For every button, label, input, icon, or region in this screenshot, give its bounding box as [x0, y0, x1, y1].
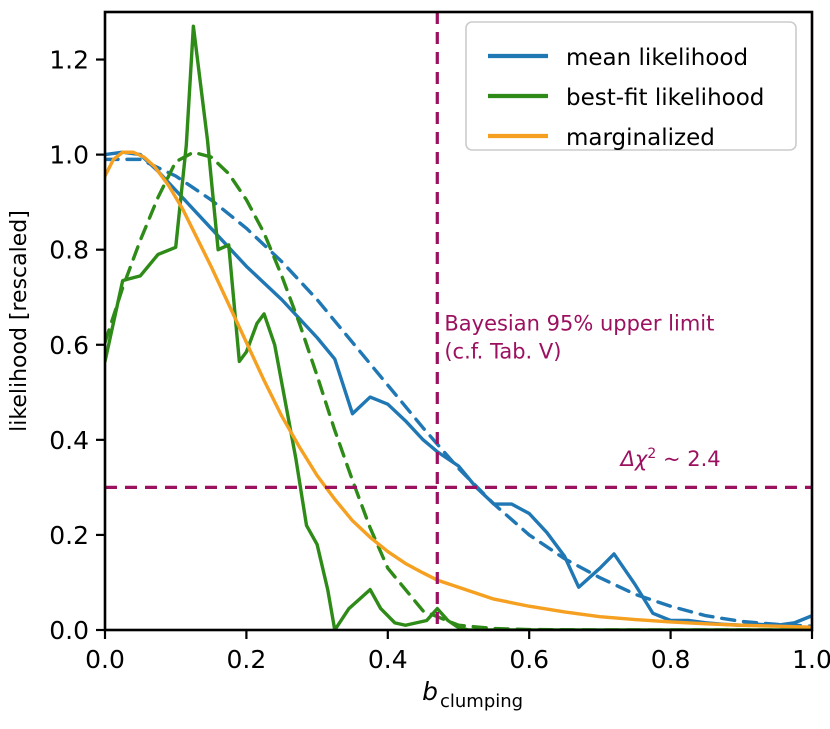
legend-label: best-fit likelihood	[566, 85, 764, 111]
delta-chi2-annotation-text: Δχ2 ~ 2.4	[619, 446, 721, 471]
x-tick-label: 0.0	[85, 645, 125, 674]
y-tick-label: 0.2	[49, 521, 89, 550]
x-tick-label: 0.6	[509, 645, 549, 674]
y-tick-label: 0.8	[49, 236, 89, 265]
y-tick-label: 0.6	[49, 331, 89, 360]
x-tick-label: 0.4	[368, 645, 408, 674]
legend: mean likelihoodbest-fit likelihoodmargin…	[466, 22, 796, 151]
delta-chi2-annotation: Δχ2 ~ 2.4	[619, 446, 721, 471]
y-tick-label: 1.0	[49, 141, 89, 170]
bayesian-limit-annotation: Bayesian 95% upper limit	[444, 312, 714, 336]
legend-label: mean likelihood	[566, 45, 748, 71]
x-tick-label: 0.8	[651, 645, 691, 674]
y-tick-label: 1.2	[49, 46, 89, 75]
x-tick-label: 0.2	[227, 645, 267, 674]
x-axis-title-sub: clumping	[440, 691, 523, 712]
x-tick-label: 1.0	[792, 645, 830, 674]
chart-figure: 0.00.20.40.60.81.00.00.20.40.60.81.01.2 …	[0, 0, 830, 729]
x-axis-title-main: b	[422, 677, 438, 706]
y-tick-label: 0.4	[49, 426, 89, 455]
legend-label: marginalized	[566, 125, 715, 151]
y-tick-label: 0.0	[49, 616, 89, 645]
bayesian-limit-annotation: (c.f. Tab. V)	[444, 340, 561, 364]
y-axis-title: likelihood [rescaled]	[7, 210, 32, 432]
likelihood-chart: 0.00.20.40.60.81.00.00.20.40.60.81.01.2 …	[0, 0, 830, 729]
